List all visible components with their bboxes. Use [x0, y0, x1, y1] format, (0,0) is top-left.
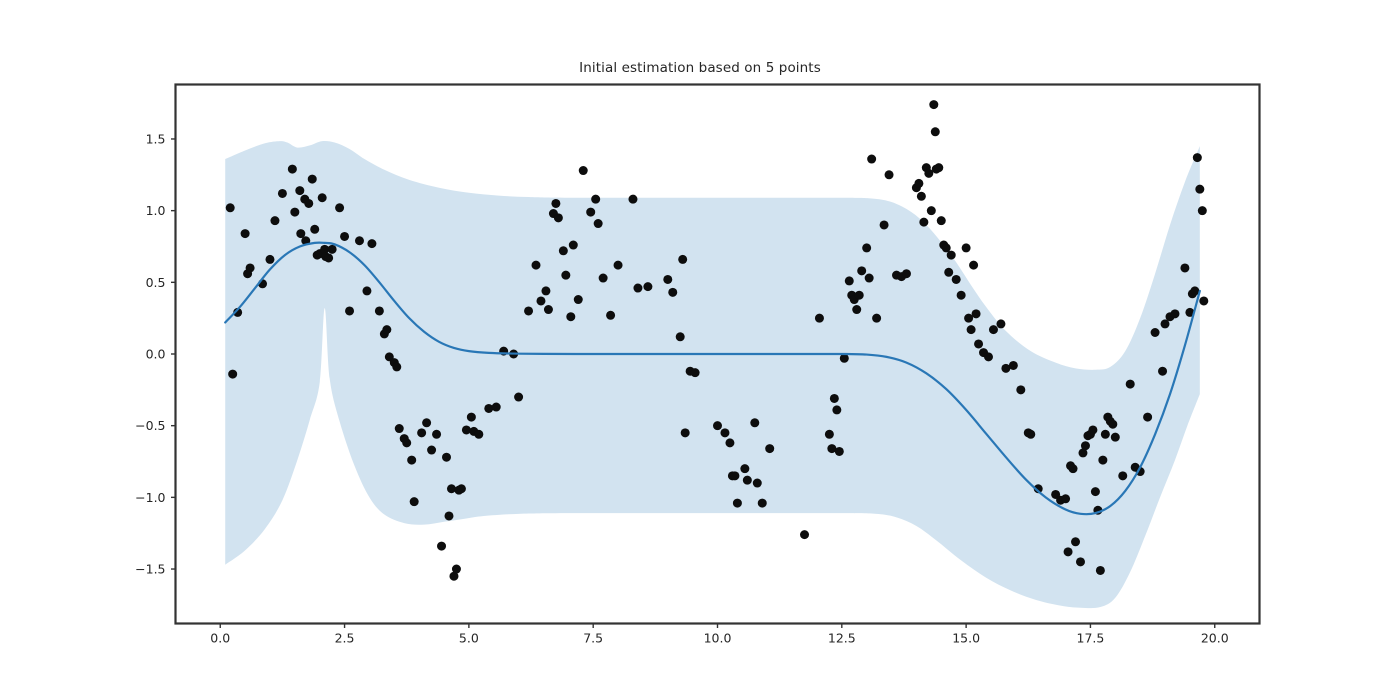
scatter-point [392, 362, 401, 371]
scatter-point [1180, 263, 1189, 272]
scatter-point [395, 424, 404, 433]
scatter-point [536, 296, 545, 305]
scatter-point [1071, 537, 1080, 546]
scatter-point [335, 203, 344, 212]
scatter-point [691, 368, 700, 377]
scatter-point [551, 199, 560, 208]
scatter-point [815, 314, 824, 323]
scatter-point [574, 295, 583, 304]
scatter-point [765, 444, 774, 453]
x-tick-label: 15.0 [952, 631, 980, 646]
scatter-point [462, 425, 471, 434]
confidence-band-path [225, 141, 1200, 608]
scatter-point [474, 430, 483, 439]
scatter-point [929, 100, 938, 109]
scatter-point [318, 193, 327, 202]
scatter-point [1195, 185, 1204, 194]
y-tick-label: 0.5 [146, 275, 166, 290]
scatter-point [857, 266, 866, 275]
scatter-point [713, 421, 722, 430]
scatter-point [753, 479, 762, 488]
x-tick-label: 17.5 [1077, 631, 1105, 646]
scatter-point [681, 428, 690, 437]
x-tick-label: 5.0 [459, 631, 479, 646]
scatter-point [845, 276, 854, 285]
chart-plot-area: 0.02.55.07.510.012.515.017.520.0 −1.5−1.… [0, 0, 1400, 700]
scatter-point [996, 319, 1005, 328]
scatter-point [1158, 367, 1167, 376]
scatter-point [417, 428, 426, 437]
scatter-point [484, 404, 493, 413]
scatter-point [867, 155, 876, 164]
scatter-point [633, 284, 642, 293]
scatter-point [432, 430, 441, 439]
scatter-point [1061, 494, 1070, 503]
scatter-point [410, 497, 419, 506]
scatter-point [1108, 420, 1117, 429]
scatter-point [1096, 566, 1105, 575]
scatter-point [324, 253, 333, 262]
scatter-point [606, 311, 615, 320]
scatter-point [308, 175, 317, 184]
scatter-point [444, 511, 453, 520]
scatter-point [984, 352, 993, 361]
scatter-point [862, 243, 871, 252]
scatter-point [1098, 456, 1107, 465]
scatter-point [367, 239, 376, 248]
scatter-point [668, 288, 677, 297]
scatter-point [880, 220, 889, 229]
scatter-point [295, 186, 304, 195]
scatter-point [678, 255, 687, 264]
scatter-point [1101, 430, 1110, 439]
scatter-point [914, 179, 923, 188]
scatter-point [725, 438, 734, 447]
scatter-point [989, 325, 998, 334]
y-tick-label: −1.0 [135, 490, 165, 505]
scatter-point [1118, 471, 1127, 480]
scatter-point [452, 565, 461, 574]
scatter-point [643, 282, 652, 291]
scatter-point [1088, 425, 1097, 434]
scatter-point [1126, 380, 1135, 389]
scatter-point [1143, 413, 1152, 422]
scatter-point [1193, 153, 1202, 162]
scatter-point [628, 195, 637, 204]
scatter-point [967, 325, 976, 334]
scatter-point [743, 476, 752, 485]
scatter-point [345, 306, 354, 315]
scatter-point [422, 418, 431, 427]
scatter-point [278, 189, 287, 198]
scatter-point [969, 261, 978, 270]
scatter-point [561, 271, 570, 280]
scatter-point [1170, 309, 1179, 318]
scatter-point [270, 216, 279, 225]
x-tick-label: 12.5 [828, 631, 856, 646]
scatter-point [740, 464, 749, 473]
scatter-point [934, 163, 943, 172]
scatter-point [579, 166, 588, 175]
scatter-point [832, 405, 841, 414]
scatter-point [944, 268, 953, 277]
scatter-point [927, 206, 936, 215]
scatter-point [559, 246, 568, 255]
scatter-point [1026, 430, 1035, 439]
scatter-point [591, 195, 600, 204]
scatter-point [800, 530, 809, 539]
scatter-point [355, 236, 364, 245]
scatter-point [1069, 464, 1078, 473]
y-tick-label: 1.0 [146, 203, 166, 218]
scatter-point [265, 255, 274, 264]
scatter-point [1091, 487, 1100, 496]
scatter-point [304, 199, 313, 208]
figure-canvas: Initial estimation based on 5 points 0.0… [0, 0, 1400, 700]
scatter-point [830, 394, 839, 403]
scatter-point [825, 430, 834, 439]
scatter-point [541, 286, 550, 295]
scatter-point [1016, 385, 1025, 394]
y-tick-label: 1.5 [146, 131, 166, 146]
scatter-point [1009, 361, 1018, 370]
scatter-point [1076, 557, 1085, 566]
scatter-point [554, 213, 563, 222]
scatter-point [835, 447, 844, 456]
scatter-point [402, 438, 411, 447]
scatter-point [957, 291, 966, 300]
scatter-point [1151, 328, 1160, 337]
scatter-point [447, 484, 456, 493]
scatter-point [855, 291, 864, 300]
scatter-point [586, 208, 595, 217]
scatter-point [594, 219, 603, 228]
x-tick-label: 2.5 [335, 631, 355, 646]
x-tick-label: 0.0 [210, 631, 230, 646]
scatter-point [328, 245, 337, 254]
scatter-point [1111, 433, 1120, 442]
scatter-point [457, 484, 466, 493]
scatter-point [902, 269, 911, 278]
scatter-point [566, 312, 575, 321]
y-tick-label: −0.5 [135, 418, 165, 433]
scatter-point [569, 241, 578, 250]
scatter-point [442, 453, 451, 462]
scatter-point [972, 309, 981, 318]
scatter-point [310, 225, 319, 234]
scatter-point [663, 275, 672, 284]
scatter-point [524, 306, 533, 315]
x-tick-label: 10.0 [704, 631, 732, 646]
scatter-point [974, 339, 983, 348]
scatter-point [872, 314, 881, 323]
scatter-point [362, 286, 371, 295]
scatter-point [1199, 296, 1208, 305]
scatter-point [962, 243, 971, 252]
x-tick-label: 20.0 [1201, 631, 1229, 646]
scatter-point [544, 305, 553, 314]
scatter-point [427, 446, 436, 455]
scatter-point [226, 203, 235, 212]
scatter-point [241, 229, 250, 238]
scatter-point [1081, 441, 1090, 450]
scatter-point [614, 261, 623, 270]
scatter-point [340, 232, 349, 241]
scatter-point [375, 306, 384, 315]
scatter-point [840, 354, 849, 363]
scatter-point [931, 127, 940, 136]
y-tick-label: 0.0 [146, 347, 166, 362]
scatter-point [514, 393, 523, 402]
scatter-point [492, 403, 501, 412]
scatter-point [532, 261, 541, 270]
scatter-point [947, 251, 956, 260]
scatter-point [733, 499, 742, 508]
scatter-point [467, 413, 476, 422]
scatter-point [758, 499, 767, 508]
scatter-point [720, 428, 729, 437]
scatter-point [865, 274, 874, 283]
scatter-point [288, 165, 297, 174]
scatter-point [437, 542, 446, 551]
scatter-point [1064, 547, 1073, 556]
confidence-band [225, 141, 1200, 608]
scatter-point [246, 263, 255, 272]
scatter-point [1198, 206, 1207, 215]
x-tick-label: 7.5 [583, 631, 603, 646]
scatter-point [676, 332, 685, 341]
scatter-point [917, 192, 926, 201]
scatter-point [290, 208, 299, 217]
scatter-point [407, 456, 416, 465]
scatter-point [852, 305, 861, 314]
y-axis-ticks: −1.5−1.0−0.50.00.51.01.5 [135, 131, 175, 576]
scatter-point [919, 218, 928, 227]
x-axis-ticks: 0.02.55.07.510.012.515.017.520.0 [210, 624, 1228, 646]
scatter-point [228, 370, 237, 379]
scatter-point [952, 275, 961, 284]
scatter-point [382, 325, 391, 334]
scatter-point [730, 471, 739, 480]
scatter-point [885, 170, 894, 179]
scatter-point [750, 418, 759, 427]
scatter-point [937, 216, 946, 225]
scatter-point [599, 274, 608, 283]
y-tick-label: −1.5 [135, 562, 165, 577]
